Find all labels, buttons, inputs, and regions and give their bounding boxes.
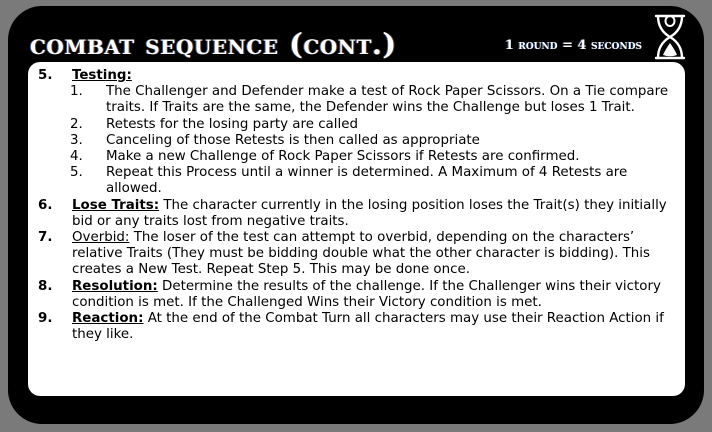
list-item: 3. Canceling of those Retests is then ca… <box>70 133 677 149</box>
list-item-lead: Reaction: <box>72 311 143 326</box>
list-item-number: 4. <box>70 149 106 165</box>
list-item-lead: Testing: <box>72 68 132 83</box>
list-item-text: Overbid: The loser of the test can attem… <box>72 230 677 279</box>
list-item-number: 3. <box>70 133 106 149</box>
hourglass-icon <box>650 12 690 62</box>
rules-card: Combat Sequence (Cont.) 1 Round = 4 Seco… <box>8 6 704 424</box>
list-item: 7. Overbid: The loser of the test can at… <box>38 230 677 279</box>
list-item-body: The loser of the test can attempt to ove… <box>72 230 650 277</box>
round-duration-note: 1 Round = 4 Seconds <box>505 38 642 53</box>
list-item-text: Lose Traits: The character currently in … <box>72 198 677 230</box>
list-item-text: Repeat this Process until a winner is de… <box>106 165 677 197</box>
list-item-number: 2. <box>70 117 106 133</box>
list-item: 5. Testing: <box>38 68 677 84</box>
list-item: 6. Lose Traits: The character currently … <box>38 198 677 230</box>
list-item-text: Retests for the losing party are called <box>106 117 677 133</box>
list-item-text: Make a new Challenge of Rock Paper Sciss… <box>106 149 677 165</box>
list-item: 4. Make a new Challenge of Rock Paper Sc… <box>70 149 677 165</box>
list-item-number: 5. <box>70 165 106 181</box>
list-item-body: The character currently in the losing po… <box>72 198 667 229</box>
list-item: 8. Resolution: Determine the results of … <box>38 279 677 311</box>
card-header: Combat Sequence (Cont.) 1 Round = 4 Seco… <box>8 6 704 64</box>
list-item-text: Canceling of those Retests is then calle… <box>106 133 677 149</box>
list-item-number: 7. <box>38 230 72 246</box>
list-item-text: The Challenger and Defender make a test … <box>106 84 677 116</box>
list-item-text: Reaction: At the end of the Combat Turn … <box>72 311 677 343</box>
list-item-number: 8. <box>38 279 72 295</box>
list-item-number: 6. <box>38 198 72 214</box>
list-item: 5. Repeat this Process until a winner is… <box>70 165 677 197</box>
list-item: 1. The Challenger and Defender make a te… <box>70 84 677 116</box>
list-item-text: Testing: <box>72 68 677 84</box>
list-item: 9. Reaction: At the end of the Combat Tu… <box>38 311 677 343</box>
page-title: Combat Sequence (Cont.) <box>30 27 397 61</box>
list-item-number: 5. <box>38 68 72 84</box>
list-item-lead: Resolution: <box>72 279 158 294</box>
rules-panel: 5. Testing: 1. The Challenger and Defend… <box>28 62 685 396</box>
list-item-lead: Overbid: <box>72 230 129 245</box>
list-item: 2. Retests for the losing party are call… <box>70 117 677 133</box>
list-item-body: At the end of the Combat Turn all charac… <box>72 311 664 342</box>
list-item-text: Resolution: Determine the results of the… <box>72 279 677 311</box>
list-item-number: 9. <box>38 311 72 327</box>
list-item-number: 1. <box>70 84 106 100</box>
list-item-body: Determine the results of the challenge. … <box>72 279 661 310</box>
list-item-lead: Lose Traits: <box>72 198 159 213</box>
